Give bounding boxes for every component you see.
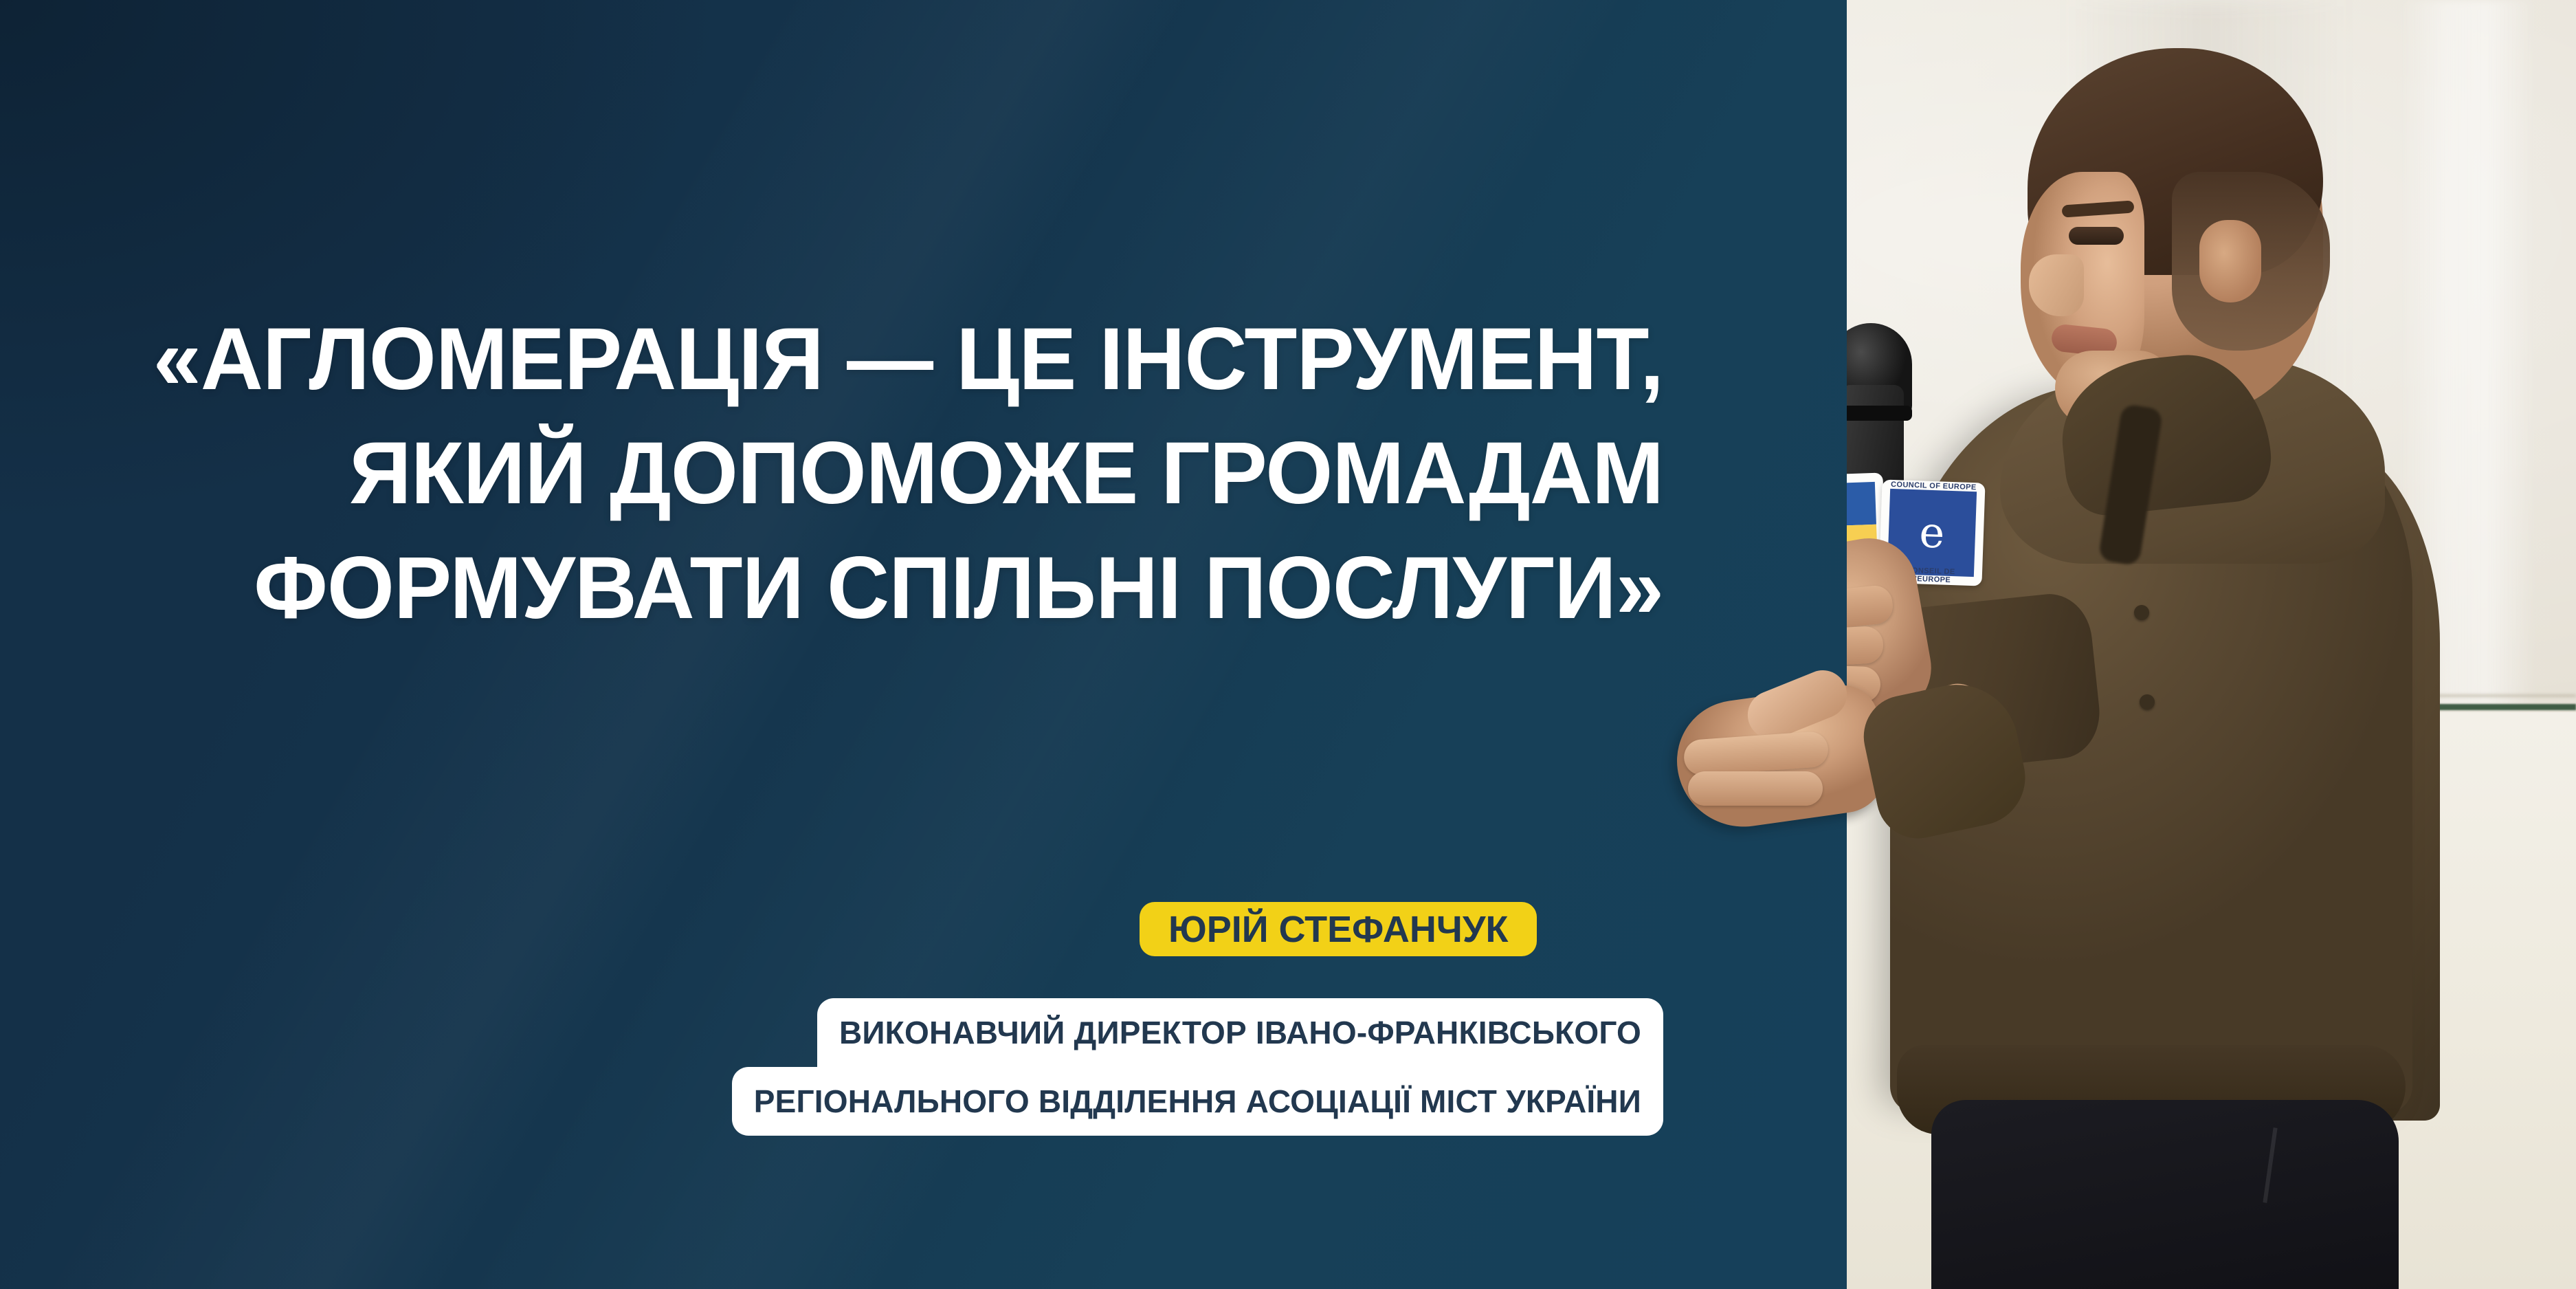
quote-text: «АГЛОМЕРАЦІЯ — ЦЕ ІНСТРУМЕНТ, ЯКИЙ ДОПОМ… xyxy=(25,302,1663,646)
speaker-name-badge: ЮРІЙ СТЕФАНЧУК xyxy=(1140,902,1537,956)
ear xyxy=(2199,220,2261,302)
trousers xyxy=(1931,1100,2399,1289)
eye xyxy=(2069,227,2124,245)
speaker-title-block: ВИКОНАВЧИЙ ДИРЕКТОР ІВАНО-ФРАНКІВСЬКОГО … xyxy=(0,998,1663,1136)
coe-emblem-icon: e xyxy=(1919,511,1946,554)
polo-button xyxy=(2140,694,2155,709)
coe-top-label: COUNCIL OF EUROPE xyxy=(1890,481,1977,492)
quote-line-2: ЯКИЙ ДОПОМОЖЕ ГРОМАДАМ xyxy=(25,417,1663,531)
speaker-title-line-2: РЕГІОНАЛЬНОГО ВІДДІЛЕННЯ АСОЦІАЦІЇ МІСТ … xyxy=(732,1067,1663,1136)
quote-card: COUNCIL OF EUROPE e CONSEIL DE L'EUROPE … xyxy=(0,0,2576,1289)
polo-button xyxy=(2134,605,2149,620)
nose xyxy=(2029,254,2084,316)
speaker-title-line-1: ВИКОНАВЧИЙ ДИРЕКТОР ІВАНО-ФРАНКІВСЬКОГО xyxy=(817,998,1663,1067)
speaker-figure: COUNCIL OF EUROPE e CONSEIL DE L'EUROPE xyxy=(1787,0,2576,1289)
quote-line-1: «АГЛОМЕРАЦІЯ — ЦЕ ІНСТРУМЕНТ, xyxy=(25,302,1663,417)
quote-line-3: ФОРМУВАТИ СПІЛЬНІ ПОСЛУГИ» xyxy=(25,531,1663,646)
